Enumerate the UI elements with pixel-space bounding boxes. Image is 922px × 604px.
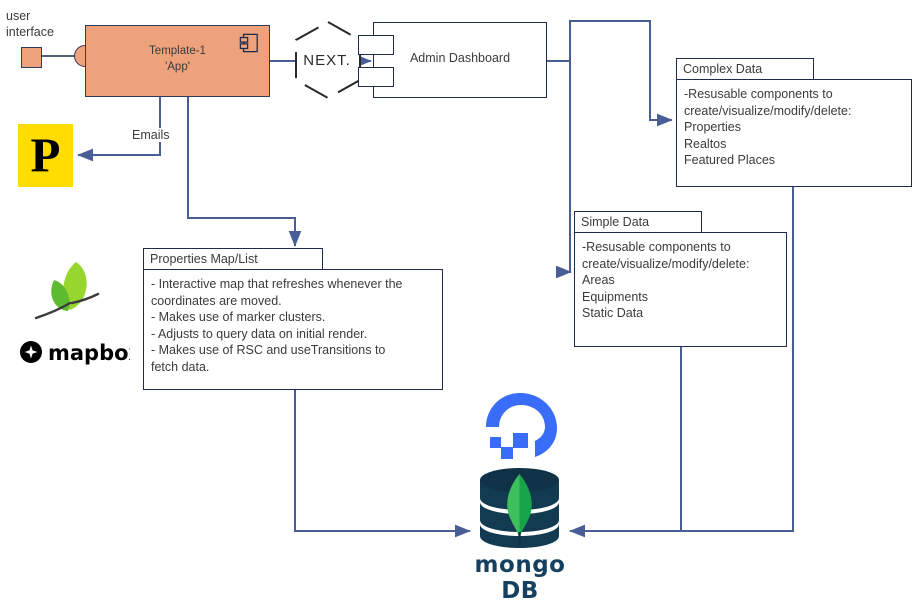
- simple-data-title: Simple Data: [574, 211, 702, 233]
- simple-data-text: -Resusable components to create/visualiz…: [582, 239, 781, 322]
- svg-text:mapbox: mapbox: [48, 341, 130, 365]
- admin-dashboard-box[interactable]: Admin Dashboard: [373, 22, 547, 98]
- admin-dashboard-port-bottom: [358, 67, 394, 87]
- postmark-letter: P: [18, 130, 73, 179]
- nextjs-logo: NEXT.: [289, 19, 367, 101]
- edge-emails-to-postmark: [78, 97, 160, 155]
- complex-data-body: -Resusable components to create/visualiz…: [676, 79, 912, 187]
- nextjs-wordmark: NEXT.: [303, 52, 351, 69]
- properties-map-list-title: Properties Map/List: [143, 248, 323, 270]
- required-interface-square: [21, 47, 42, 68]
- edge-admin-to-simple-data: [570, 61, 571, 272]
- mapbox-wordmark: mapbox: [20, 339, 130, 365]
- admin-dashboard-label: Admin Dashboard: [374, 51, 546, 65]
- digitalocean-logo: [477, 391, 563, 461]
- properties-map-list-body: - Interactive map that refreshes wheneve…: [143, 269, 443, 390]
- template-1-component[interactable]: Template-1 'App': [85, 25, 270, 97]
- mapbox-leaf-logo: [30, 258, 112, 330]
- postmark-logo: P: [18, 124, 73, 187]
- complex-data-text: -Resusable components to create/visualiz…: [684, 86, 906, 169]
- edge-template-to-properties-map: [188, 97, 295, 246]
- mongodb-icon: [477, 466, 562, 550]
- mongodb-wordmark-container: mongo DB: [455, 552, 585, 580]
- complex-data-title: Complex Data: [676, 58, 814, 80]
- user-interface-label: user interface: [6, 8, 54, 40]
- emails-edge-label: Emails: [130, 128, 172, 142]
- uml-component-icon: [239, 33, 259, 53]
- template-1-subtitle: 'App': [86, 60, 269, 74]
- simple-data-body: -Resusable components to create/visualiz…: [574, 232, 787, 347]
- properties-map-list-text: - Interactive map that refreshes wheneve…: [151, 276, 437, 375]
- edge-admin-to-complex-data: [547, 21, 672, 120]
- diagram-canvas: user interface Template-1 'App' NEXT. NE…: [0, 0, 922, 598]
- edge-properties-map-to-mongodb: [295, 370, 470, 531]
- mongodb-wordmark: mongo DB: [455, 552, 585, 604]
